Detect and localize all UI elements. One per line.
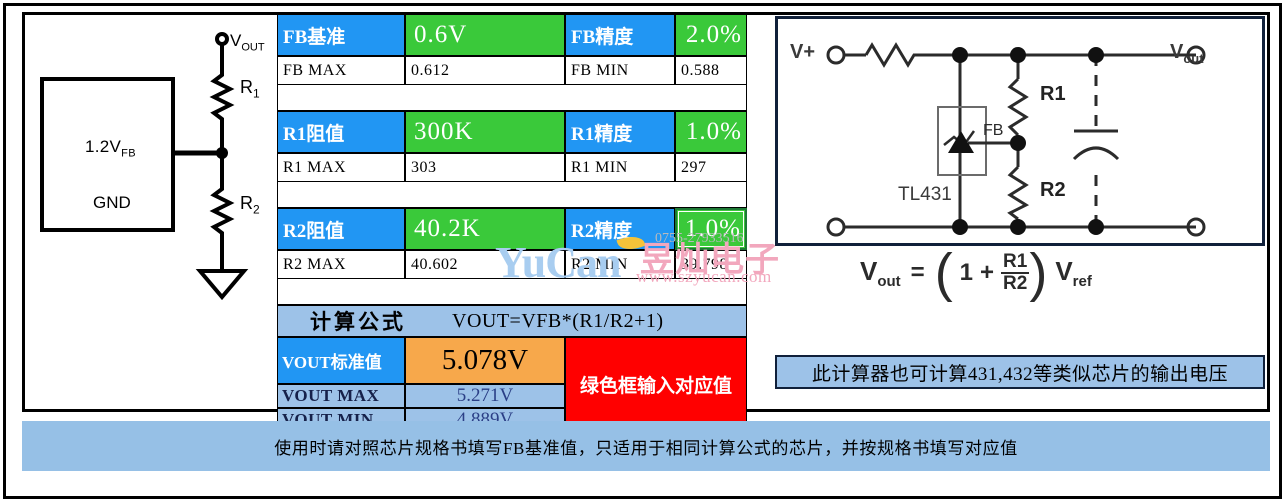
table-row: R2 MAX 40.602 R2 MIN 39.798 (277, 250, 747, 279)
vout-std-value: 5.078V (405, 337, 565, 384)
vout-equation: Vout = ( 1 + R1 R2 ) Vref (775, 248, 1265, 314)
table-row: R2阻值 40.2K R2精度 1.0% (277, 208, 747, 250)
tl431-label: TL431 (898, 184, 952, 206)
green-box-hint: 绿色框输入对应值 (565, 337, 747, 432)
equation-denominator: R2 (1001, 274, 1029, 294)
table-row: VOUT MAX 5.271V (277, 384, 565, 408)
r1-max-value: 303 (405, 153, 565, 182)
fb-node-label: FB (983, 122, 1003, 140)
chip-fb-subscript: FB (121, 147, 136, 159)
parameter-table: FB基准 0.6V FB精度 2.0% FB MAX 0.612 FB MIN … (277, 14, 747, 396)
left-r1-subscript: 1 (253, 87, 260, 101)
fb-ref-label: FB基准 (277, 14, 405, 56)
right-r2-label: R2 (1040, 179, 1066, 202)
chip-fb-label: 1.2VFB (85, 137, 136, 159)
r1-value-input[interactable]: 300K (405, 111, 565, 153)
equation-open-paren: ( (935, 254, 953, 293)
fb-tol-label: FB精度 (565, 14, 675, 56)
left-vout-subscript: OUT (241, 41, 264, 53)
r2-max-label: R2 MAX (277, 250, 405, 279)
right-vout-text: V (1170, 41, 1183, 63)
right-circuit-panel: V+ Vout R1 R2 FB TL431 (775, 16, 1265, 246)
equation-rhs-subscript: ref (1073, 273, 1092, 290)
r2-min-label: R2 MIN (565, 250, 675, 279)
equation-fraction: R1 R2 (1001, 252, 1029, 294)
fb-ref-input[interactable]: 0.6V (405, 14, 565, 56)
vout-result-block: VOUT标准值 5.078V VOUT MAX 5.271V VOUT MIN … (277, 337, 747, 432)
table-spacer-row (277, 85, 747, 111)
vout-max-label: VOUT MAX (277, 384, 405, 408)
bottom-banner: 使用时请对照芯片规格书填写FB基准值，只适用于相同计算公式的芯片，并按规格书填写… (22, 421, 1270, 471)
r1-min-label: R1 MIN (565, 153, 675, 182)
fb-min-value: 0.588 (675, 56, 747, 85)
right-vout-label: Vout (1170, 41, 1204, 66)
table-row: FB基准 0.6V FB精度 2.0% (277, 14, 747, 56)
fb-min-label: FB MIN (565, 56, 675, 85)
vout-max-value: 5.271V (405, 384, 565, 408)
left-r2-subscript: 2 (253, 203, 260, 217)
fb-max-value: 0.612 (405, 56, 565, 85)
table-row: VOUT标准值 5.078V (277, 337, 565, 384)
formula-title: 计算公式 (278, 306, 438, 336)
left-r2-text: R (240, 193, 253, 213)
fb-max-label: FB MAX (277, 56, 405, 85)
r1-max-label: R1 MAX (277, 153, 405, 182)
left-vout-label: VOUT (230, 31, 265, 53)
r1-value-label: R1阻值 (277, 111, 405, 153)
r2-min-value: 39.798 (675, 250, 747, 279)
r2-value-label: R2阻值 (277, 208, 405, 250)
left-r1-label: R1 (240, 77, 260, 101)
table-row: R1 MAX 303 R1 MIN 297 (277, 153, 747, 182)
table-row: FB MAX 0.612 FB MIN 0.588 (277, 56, 747, 85)
r1-tol-label: R1精度 (565, 111, 675, 153)
chip-fb-value: 1.2V (85, 137, 121, 156)
r1-tol-input[interactable]: 1.0% (675, 111, 747, 153)
formula-row: 计算公式 VOUT=VFB*(R1/R2+1) (277, 305, 747, 337)
right-r1-label: R1 (1040, 83, 1066, 106)
r1-min-value: 297 (675, 153, 747, 182)
right-panel-note: 此计算器也可计算431,432等类似芯片的输出电压 (775, 355, 1265, 389)
left-circuit-diagram: 1.2VFB GND VOUT R1 R2 (25, 15, 275, 345)
vout-std-label: VOUT标准值 (277, 337, 405, 384)
table-spacer-row (277, 182, 747, 208)
table-spacer-row (277, 279, 747, 305)
r2-value-input[interactable]: 40.2K (405, 208, 565, 250)
r2-tol-input-selected[interactable]: 1.0% (675, 208, 747, 250)
table-row: R1阻值 300K R1精度 1.0% (277, 111, 747, 153)
left-r2-label: R2 (240, 193, 260, 217)
calculator-screenshot: 1.2VFB GND VOUT R1 R2 FB基准 0.6V FB精度 2.0… (0, 0, 1286, 503)
formula-expression: VOUT=VFB*(R1/R2+1) (438, 310, 746, 333)
equation-plus: + (980, 259, 994, 287)
fb-tol-input[interactable]: 2.0% (675, 14, 747, 56)
equation-rhs: Vref (1055, 256, 1092, 290)
v-plus-label: V+ (790, 41, 815, 64)
equation-lhs-text: V (860, 256, 877, 286)
equation-expression: Vout = ( 1 + R1 R2 ) Vref (860, 252, 1092, 294)
equation-equals: = (911, 259, 925, 287)
equation-one: 1 (960, 259, 973, 287)
r2-max-value: 40.602 (405, 250, 565, 279)
left-vout-text: V (230, 31, 241, 50)
equation-numerator: R1 (1001, 252, 1029, 274)
equation-lhs-subscript: out (877, 273, 900, 290)
left-r1-text: R (240, 77, 253, 97)
equation-lhs: Vout (860, 256, 901, 290)
vout-values-column: VOUT标准值 5.078V VOUT MAX 5.271V VOUT MIN … (277, 337, 565, 432)
r2-tol-label: R2精度 (565, 208, 675, 250)
chip-gnd-label: GND (93, 193, 131, 213)
right-vout-subscript: out (1183, 51, 1203, 66)
equation-rhs-text: V (1055, 256, 1072, 286)
equation-close-paren: ) (1029, 254, 1047, 293)
